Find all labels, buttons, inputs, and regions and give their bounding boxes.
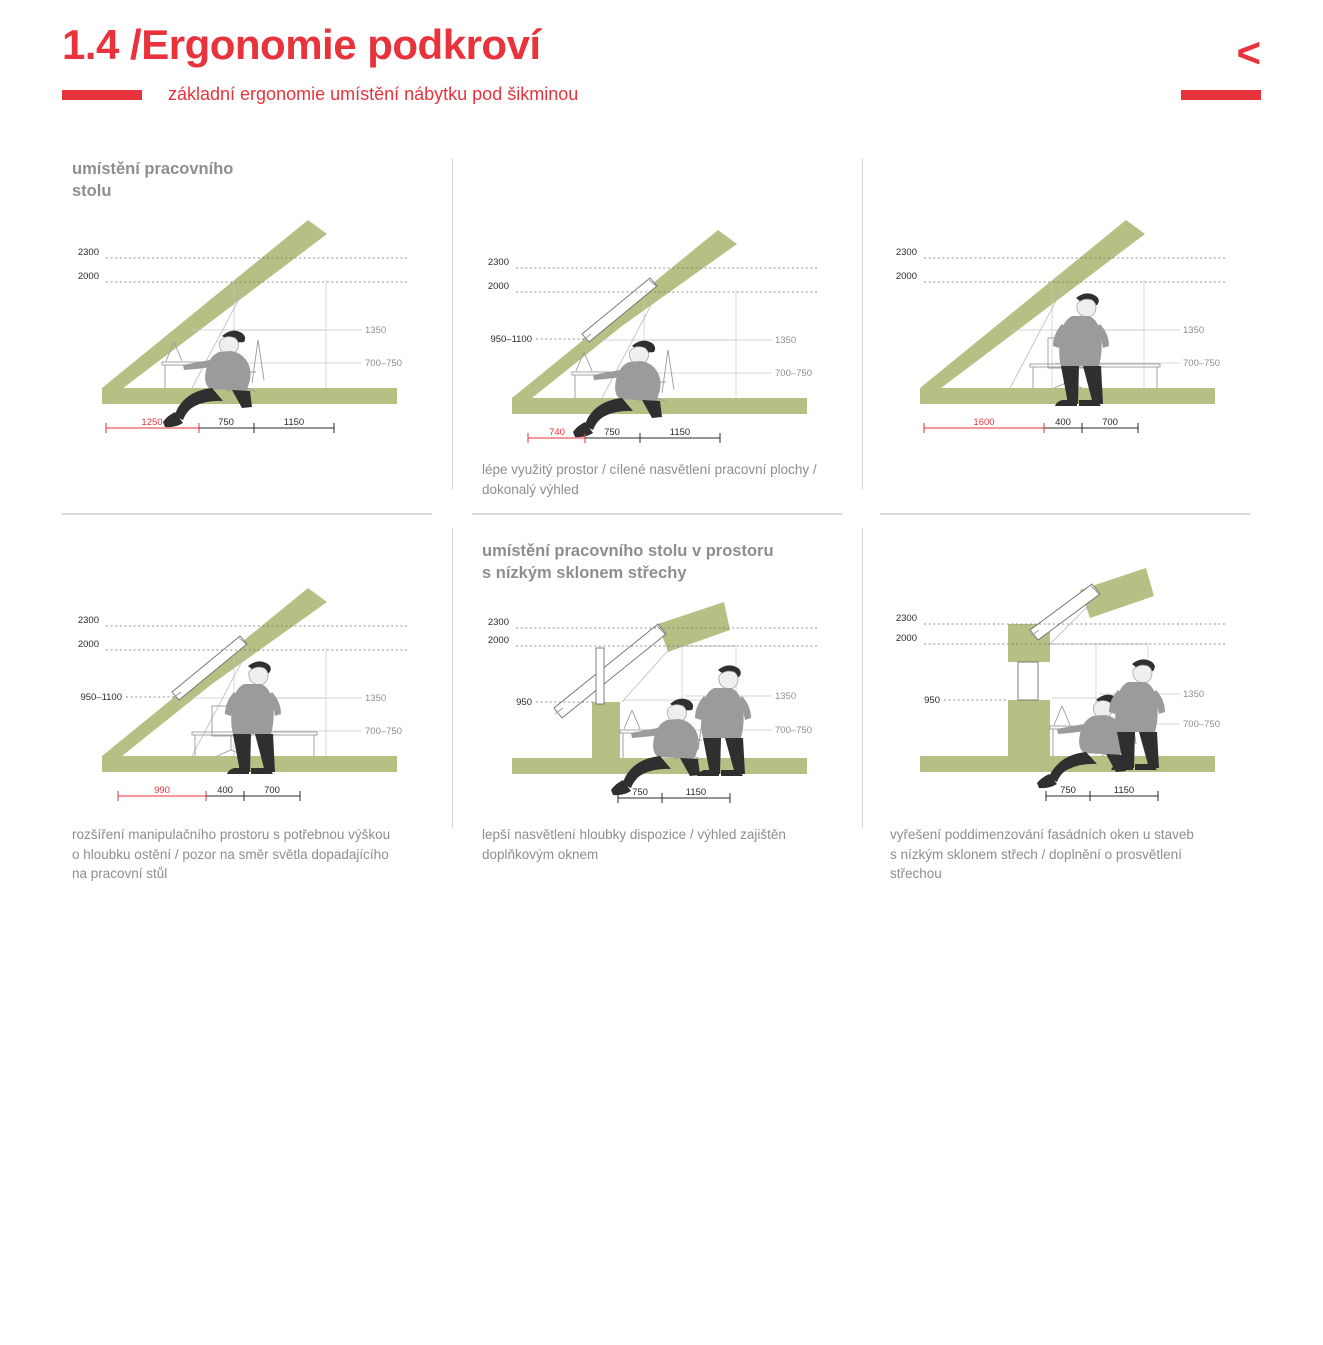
panel-6-dim-2: 1150 — [1114, 785, 1134, 796]
panel-3-dim-3: 700 — [1102, 417, 1118, 428]
title-rule-right — [1181, 90, 1261, 100]
panel-1-diagram: 2300 2000 1350 700–750 — [62, 220, 454, 460]
panel-5-caption: lepší nasvětlení hloubky dispozice / výh… — [482, 825, 786, 864]
panel-2-caption: lépe využitý prostor / cílené nasvětlení… — [482, 460, 817, 499]
panel-4-height-2300: 2300 — [78, 615, 99, 626]
panel-2-height-2300: 2300 — [488, 257, 509, 268]
panel-3-dim-2: 400 — [1055, 417, 1071, 428]
back-chevron-icon[interactable]: < — [1236, 32, 1261, 74]
panel-5-height-700750: 700–750 — [775, 725, 812, 736]
panel-1-heading: umístění pracovního stolu — [72, 158, 233, 203]
slide-header: 1.4 /Ergonomie podkroví základní ergonom… — [0, 0, 1323, 120]
panel-2-diagram: 2300 2000 950–1100 1350 700–750 — [472, 230, 864, 470]
panel-5-dimension-chain: 750 1150 — [618, 787, 730, 803]
panel-4-dim-1: 990 — [154, 785, 170, 796]
panel-6-sill-label: 950 — [924, 695, 940, 706]
panel-4-height-700750: 700–750 — [365, 726, 402, 737]
panel-4-dim-2: 400 — [217, 785, 233, 796]
panel-6-caption: vyřešení poddimenzování fasádních oken u… — [890, 825, 1194, 884]
panel-3-dimension-chain: 1600 400 700 — [924, 417, 1138, 433]
panel-4-caption: rozšíření manipulačního prostoru s potře… — [72, 825, 390, 884]
panel-2-dimension-chain: 740 750 1150 — [528, 427, 720, 443]
panel-4-dimension-chain: 990 400 700 — [118, 785, 300, 801]
seated-person-2 — [573, 341, 662, 438]
seated-person-5 — [611, 699, 700, 796]
panel-2-height-2000: 2000 — [488, 281, 509, 292]
panel-3-dim-1: 1600 — [973, 417, 994, 428]
panel-5-dim-2: 1150 — [686, 787, 706, 798]
panel-4-height-2000: 2000 — [78, 639, 99, 650]
panel-5-height-2000: 2000 — [488, 635, 509, 646]
panel-4-dim-3: 700 — [264, 785, 280, 796]
panel-5-sill-label: 950 — [516, 697, 532, 708]
panel-2-sill-label: 950–1100 — [490, 334, 532, 345]
roof-window-4 — [172, 636, 247, 700]
panel-5-height-2300: 2300 — [488, 617, 509, 628]
title-rule-left — [62, 90, 142, 100]
roof-window-2 — [582, 278, 657, 342]
panel-1-dim-1: 1250 — [141, 417, 162, 428]
panel-6-height-1350: 1350 — [1183, 689, 1204, 700]
panel-1-height-1350: 1350 — [365, 325, 386, 336]
panel-6-diagram: 2300 2000 950 1350 700–750 — [880, 568, 1272, 828]
panel-3-height-2000: 2000 — [896, 271, 917, 282]
panel-5-dim-1: 750 — [632, 787, 648, 798]
panel-2-dim-1: 740 — [549, 427, 565, 438]
slide-page: 1.4 /Ergonomie podkroví základní ergonom… — [0, 0, 1323, 937]
panel-1-height-2000: 2000 — [78, 271, 99, 282]
page-title: 1.4 /Ergonomie podkroví — [62, 24, 541, 66]
panel-grid: umístění pracovního stolu — [0, 120, 1323, 937]
panel-4-height-1350: 1350 — [365, 693, 386, 704]
panel-6-height-700750: 700–750 — [1183, 719, 1220, 730]
page-subtitle: základní ergonomie umístění nábytku pod … — [168, 84, 578, 106]
panel-4-diagram: 2300 2000 950–1100 1350 700–750 — [62, 588, 454, 828]
panel-1-height-700750: 700–750 — [365, 358, 402, 369]
panel-5-heading: umístění pracovního stolu v prostoru s n… — [482, 540, 774, 585]
panel-6-height-2000: 2000 — [896, 633, 917, 644]
panel-1-dim-3: 1150 — [284, 417, 304, 428]
panel-2-dim-2: 750 — [604, 427, 620, 438]
panel-1-dim-2: 750 — [218, 417, 234, 428]
panel-1-height-2300: 2300 — [78, 247, 99, 258]
panel-1-dimension-chain: 1250 750 1150 — [106, 417, 334, 433]
panel-4-sill-label: 950–1100 — [80, 692, 122, 703]
panel-3-diagram: 2300 2000 1350 700–750 — [880, 220, 1272, 460]
panel-6-dimension-chain: 750 1150 — [1046, 785, 1158, 801]
panel-3-height-1350: 1350 — [1183, 325, 1204, 336]
panel-2-height-1350: 1350 — [775, 335, 796, 346]
panel-3-height-2300: 2300 — [896, 247, 917, 258]
panel-3-height-700750: 700–750 — [1183, 358, 1220, 369]
panel-2-height-700750: 700–750 — [775, 368, 812, 379]
panel-5-height-1350: 1350 — [775, 691, 796, 702]
panel-2-dim-3: 1150 — [670, 427, 690, 438]
panel-5-diagram: 2300 2000 950 1350 700–750 — [472, 590, 864, 830]
panel-6-dim-1: 750 — [1060, 785, 1076, 796]
panel-6-height-2300: 2300 — [896, 613, 917, 624]
